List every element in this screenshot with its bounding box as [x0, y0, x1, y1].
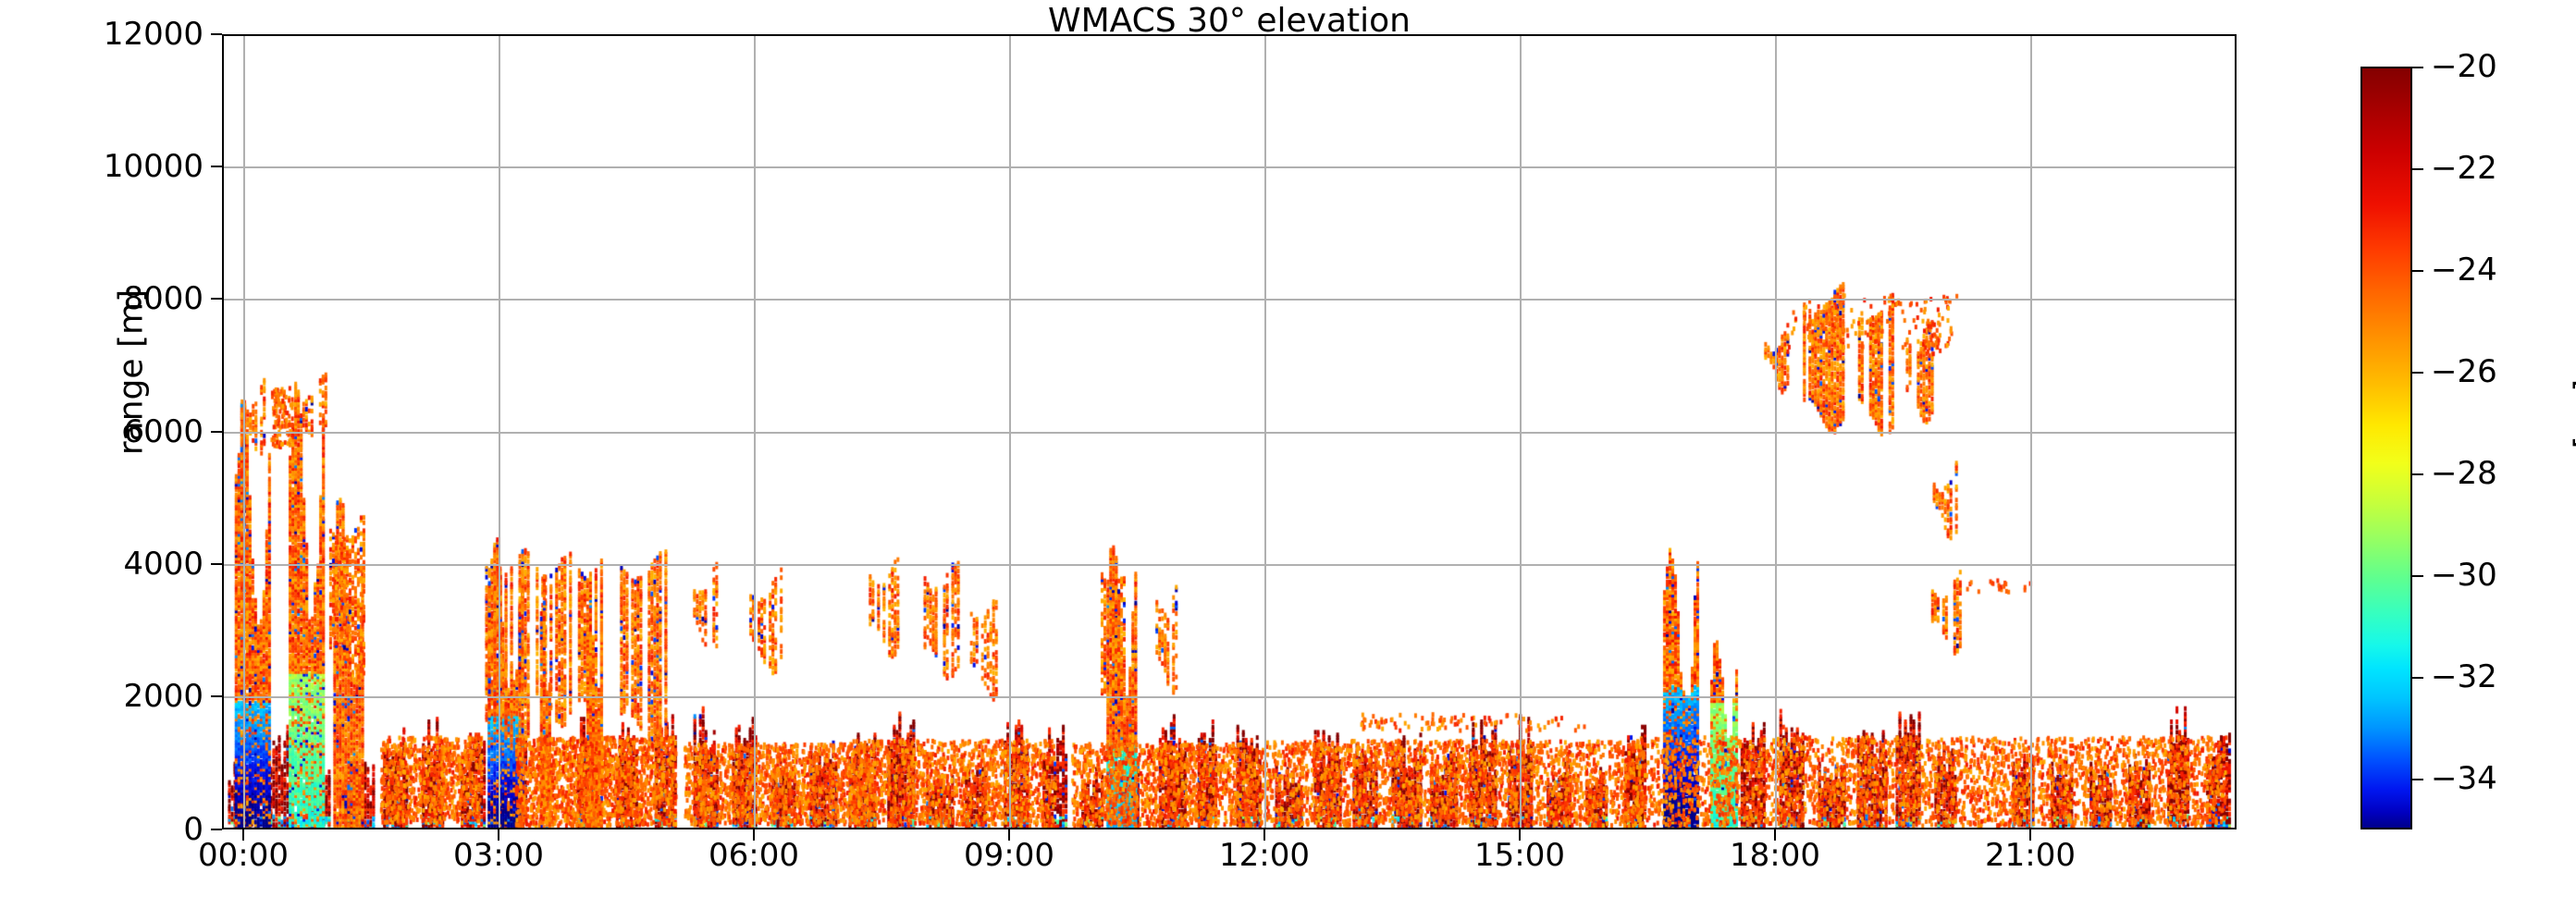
- colorbar-tick-mark: [2412, 779, 2423, 780]
- y-tick-mark: [211, 166, 222, 167]
- y-tick-mark: [211, 695, 222, 697]
- colorbar-tick-mark: [2412, 372, 2423, 374]
- colorbar-axis-label: LDR [dB]: [2570, 255, 2576, 496]
- x-tick-mark: [2029, 829, 2031, 841]
- colorbar-tick-mark: [2412, 270, 2423, 272]
- colorbar-tick-mark: [2412, 67, 2423, 68]
- y-axis-label: range [m]: [113, 234, 151, 511]
- y-tick-label-8000: 8000: [37, 280, 203, 317]
- x-tick-mark: [1263, 829, 1265, 841]
- y-tick-mark: [211, 431, 222, 433]
- colorbar-tick-label-m26: −26: [2431, 353, 2576, 390]
- colorbar-tick-mark: [2412, 473, 2423, 475]
- y-tick-mark: [211, 33, 222, 35]
- x-tick-mark: [1519, 829, 1521, 841]
- y-tick-mark: [211, 298, 222, 300]
- colorbar-tick-mark: [2412, 575, 2423, 577]
- colorbar-tick-label-m34: −34: [2431, 760, 2576, 797]
- x-tick-mark: [1008, 829, 1010, 841]
- x-tick-mark: [753, 829, 755, 841]
- y-tick-label-6000: 6000: [37, 413, 203, 450]
- figure-root: WMACS 30° elevation range [m] 12000 1000…: [0, 0, 2576, 909]
- colorbar-tick-label-m24: −24: [2431, 252, 2576, 289]
- y-tick-label-10000: 10000: [37, 148, 203, 185]
- x-tick-mark: [1774, 829, 1776, 841]
- plot-area[interactable]: [222, 34, 2237, 829]
- colorbar-tick-label-m30: −30: [2431, 557, 2576, 594]
- colorbar-tick-mark: [2412, 168, 2423, 170]
- y-tick-mark: [211, 563, 222, 565]
- x-tick-mark: [498, 829, 499, 841]
- colorbar-tick-label-m32: −32: [2431, 658, 2576, 695]
- colorbar-tick-label-m20: −20: [2431, 48, 2576, 85]
- colorbar-tick-label-m22: −22: [2431, 150, 2576, 187]
- x-tick-label-2100: 21:00: [1919, 837, 2141, 874]
- x-tick-label-0600: 06:00: [643, 837, 865, 874]
- y-tick-label-2000: 2000: [37, 678, 203, 715]
- x-tick-label-0300: 03:00: [388, 837, 610, 874]
- x-tick-label-1800: 18:00: [1664, 837, 1886, 874]
- x-tick-label-0900: 09:00: [898, 837, 1120, 874]
- x-tick-mark: [242, 829, 244, 841]
- y-tick-label-12000: 12000: [37, 16, 203, 53]
- x-tick-label-1200: 12:00: [1153, 837, 1375, 874]
- x-tick-label-1500: 15:00: [1409, 837, 1631, 874]
- y-tick-label-4000: 4000: [37, 546, 203, 583]
- y-tick-mark: [211, 829, 222, 830]
- colorbar-tick-mark: [2412, 677, 2423, 679]
- x-tick-label-0000: 00:00: [132, 837, 354, 874]
- colorbar-tick-label-m28: −28: [2431, 455, 2576, 492]
- heatmap-canvas[interactable]: [224, 36, 2235, 828]
- colorbar: [2360, 67, 2412, 829]
